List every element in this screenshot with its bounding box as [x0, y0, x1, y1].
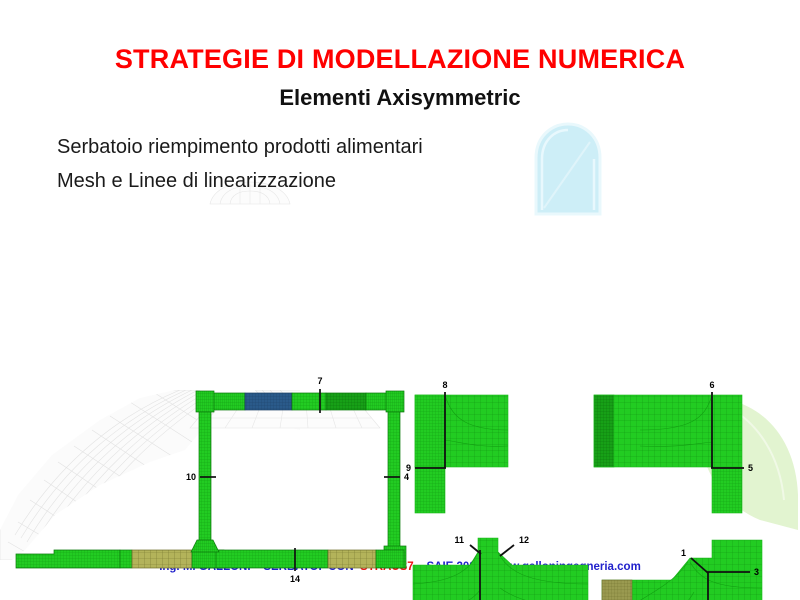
detail-bottom-left: 13 11 12 [413, 535, 588, 600]
linearization-label-5: 5 [748, 463, 753, 473]
linearization-label-1: 1 [681, 548, 686, 558]
linearization-label-11: 11 [454, 535, 464, 545]
linearization-label-4: 4 [404, 472, 409, 482]
linearization-label-7: 7 [317, 376, 322, 386]
fem-mesh-svg: 7 10 4 14 8 9 [0, 180, 800, 540]
linearization-label-8: 8 [442, 380, 447, 390]
detail-top-left: 8 9 [406, 380, 508, 513]
linearization-label-14: 14 [290, 574, 300, 584]
linearization-line-12 [500, 545, 514, 556]
linearization-label-12: 12 [519, 535, 529, 545]
linearization-label-9: 9 [406, 463, 411, 473]
description-line-1: Serbatoio riempimento prodotti alimentar… [57, 136, 423, 159]
linearization-label-10: 10 [186, 472, 196, 482]
detail-top-right: 6 5 [594, 380, 753, 513]
page-subtitle: Elementi Axisymmetric [0, 85, 800, 111]
tank-section-mesh: 7 10 4 14 [16, 376, 409, 584]
linearization-label-3: 3 [754, 567, 759, 577]
page-title: STRATEGIE DI MODELLAZIONE NUMERICA [0, 44, 800, 75]
fem-mesh-figure: 7 10 4 14 8 9 [0, 180, 800, 540]
linearization-label-6: 6 [709, 380, 714, 390]
slide-canvas: STRATEGIE DI MODELLAZIONE NUMERICA Eleme… [0, 0, 800, 600]
